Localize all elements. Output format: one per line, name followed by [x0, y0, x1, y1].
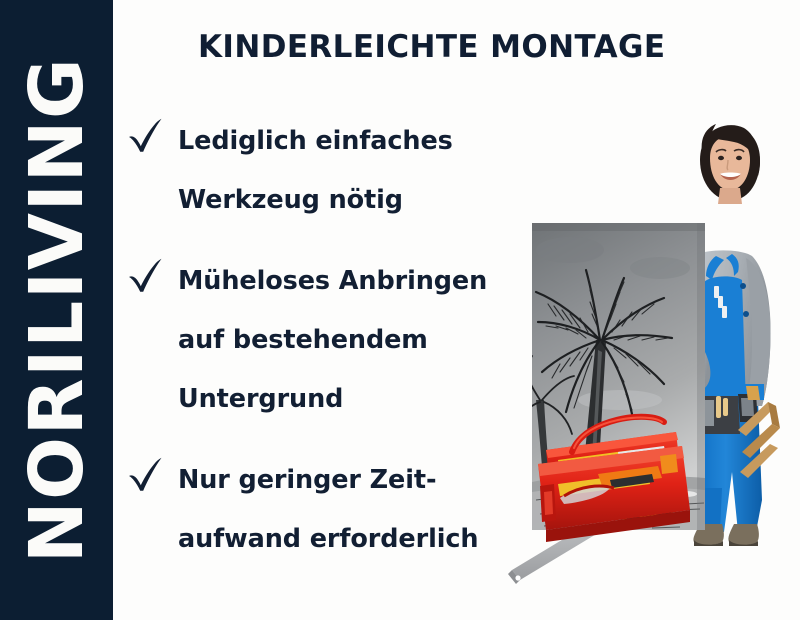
checkmark-icon	[126, 258, 166, 294]
page-title: KINDERLEICHTE MONTAGE	[198, 30, 668, 64]
list-item: Lediglich einfaches Werkzeug nötig	[126, 112, 516, 230]
list-item-line: Untergrund	[178, 370, 516, 429]
list-item-label: Müheloses Anbringen auf bestehendem Unte…	[178, 252, 516, 429]
list-item-line: Lediglich einfaches	[178, 112, 516, 171]
brand-sidebar: NORILIVING	[0, 0, 113, 620]
product-photo	[500, 100, 800, 620]
checkmark-icon	[126, 118, 166, 154]
list-item-line: Nur geringer Zeit-	[178, 451, 516, 510]
list-item-label: Nur geringer Zeit- aufwand erforderlich	[178, 451, 516, 569]
brand-wordmark: NORILIVING	[20, 57, 94, 564]
list-item-line: auf bestehendem	[178, 311, 516, 370]
list-item-line: aufwand erforderlich	[178, 510, 516, 569]
list-item-line: Müheloses Anbringen	[178, 252, 516, 311]
list-item-label: Lediglich einfaches Werkzeug nötig	[178, 112, 516, 230]
promo-banner: NORILIVING KINDERLEICHTE MONTAGE Ledigli…	[0, 0, 800, 620]
list-item-line: Werkzeug nötig	[178, 171, 516, 230]
checkmark-icon	[126, 457, 166, 493]
list-item: Müheloses Anbringen auf bestehendem Unte…	[126, 252, 516, 429]
feature-list: Lediglich einfaches Werkzeug nötig Mühel…	[126, 112, 516, 591]
list-item: Nur geringer Zeit- aufwand erforderlich	[126, 451, 516, 569]
